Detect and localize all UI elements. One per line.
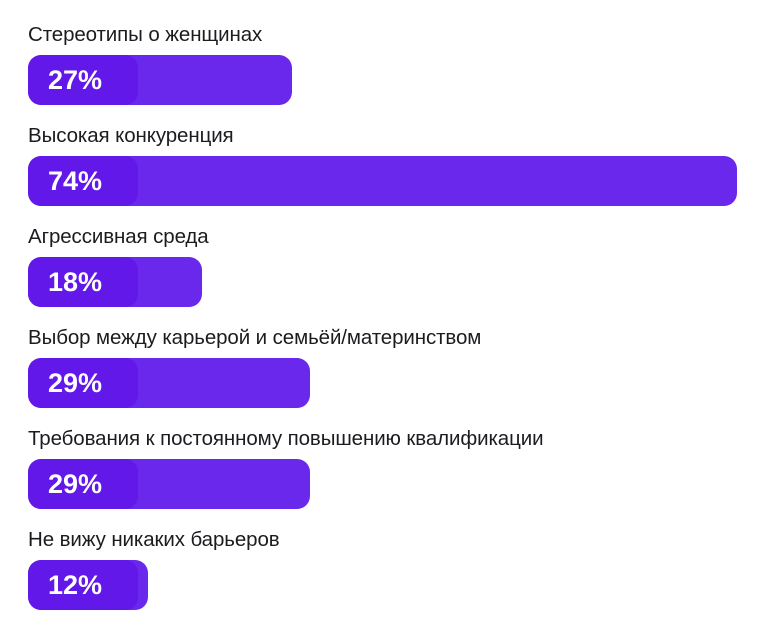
bar-track: 74%: [28, 156, 737, 206]
bar-row-label: Требования к постоянному повышению квали…: [28, 427, 768, 451]
bar-row-label: Стереотипы о женщинах: [28, 23, 768, 47]
bar-value-label: 29%: [48, 358, 102, 408]
bar-value-label: 18%: [48, 257, 102, 307]
bar-row-label: Выбор между карьерой и семьёй/материнств…: [28, 326, 768, 350]
bar-value-label: 12%: [48, 560, 102, 610]
bar-value-label: 74%: [48, 156, 102, 206]
bar-track: 29%: [28, 358, 310, 408]
horizontal-bar-chart: Стереотипы о женщинах 27% Высокая конкур…: [0, 0, 768, 637]
bar-row: Не вижу никаких барьеров 12%: [28, 528, 768, 629]
bar-row: Высокая конкуренция 74%: [28, 124, 768, 225]
bar-value-label: 29%: [48, 459, 102, 509]
bar-row-label: Агрессивная среда: [28, 225, 768, 249]
bar-track: 12%: [28, 560, 148, 610]
bar-row: Выбор между карьерой и семьёй/материнств…: [28, 326, 768, 427]
bar-track: 29%: [28, 459, 310, 509]
bar-row: Стереотипы о женщинах 27%: [28, 23, 768, 124]
bar-row-label: Не вижу никаких барьеров: [28, 528, 768, 552]
bar-value-label: 27%: [48, 55, 102, 105]
bar-row: Требования к постоянному повышению квали…: [28, 427, 768, 528]
bar-row: Агрессивная среда 18%: [28, 225, 768, 326]
bar-row-label: Высокая конкуренция: [28, 124, 768, 148]
bar-track: 27%: [28, 55, 292, 105]
bar-track: 18%: [28, 257, 202, 307]
bar-rows-container: Стереотипы о женщинах 27% Высокая конкур…: [28, 23, 768, 629]
